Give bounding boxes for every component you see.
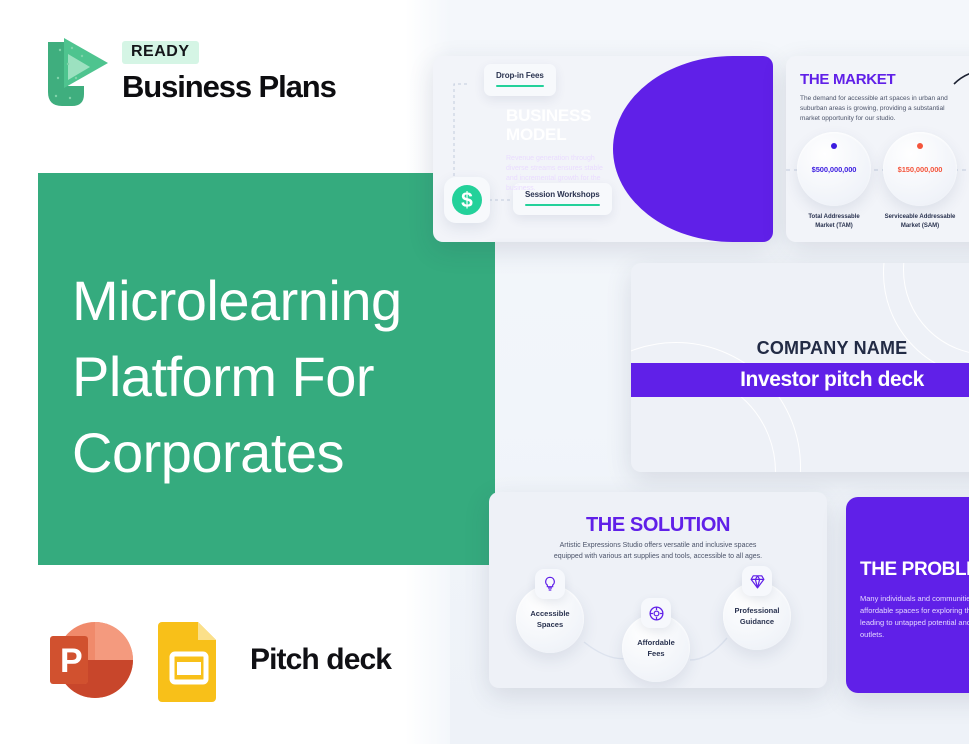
problem-body: Many individuals and communities lack ac…: [860, 593, 969, 641]
market-dial-caption: Serviceable Addressable Market (SAM): [883, 213, 957, 230]
dollar-sign-icon: $: [452, 185, 482, 215]
powerpoint-icon[interactable]: P: [38, 612, 136, 708]
market-dial[interactable]: $150,000,000 Serviceable Addressable Mar…: [883, 132, 957, 230]
slide-the-solution[interactable]: THE SOLUTION Artistic Expressions Studio…: [489, 492, 827, 688]
diamond-icon: [742, 566, 772, 596]
business-model-item[interactable]: Drop-in Fees: [484, 64, 556, 96]
business-model-title: BUSINESS MODEL: [506, 106, 616, 144]
market-dial-gauge: $150,000,000: [883, 132, 957, 206]
business-model-body: Revenue generation through diverse strea…: [506, 154, 615, 194]
business-model-icon-plate: $: [444, 177, 490, 223]
solution-node-label: Professional Guidance: [734, 605, 779, 627]
brand-logo[interactable]: READY Business Plans: [38, 34, 336, 112]
ready-badge: READY: [122, 41, 199, 64]
solution-node-label: Affordable Fees: [637, 637, 675, 659]
market-dial[interactable]: $500,000,000 Total Addressable Market (T…: [797, 132, 871, 230]
lightbulb-icon: [535, 569, 565, 599]
solution-node[interactable]: Professional Guidance: [723, 582, 791, 650]
play-arrow-logo-icon: [38, 34, 110, 112]
investor-pitch-label: Investor pitch deck: [740, 368, 924, 392]
accent-bar: [525, 204, 600, 206]
market-title: THE MARKET: [800, 71, 895, 88]
target-icon: [641, 598, 671, 628]
slide-the-market[interactable]: THE MARKET The demand for accessible art…: [786, 56, 969, 242]
poster-canvas: READY Business Plans Microlearning Platf…: [0, 0, 969, 744]
solution-node[interactable]: Affordable Fees: [622, 614, 690, 682]
brand-wordmark: READY Business Plans: [122, 41, 336, 104]
accent-bar: [496, 85, 544, 87]
problem-title: THE PROBLEM: [860, 559, 969, 581]
market-dial-gauge: $500,000,000: [797, 132, 871, 206]
investor-pitch-band: Investor pitch deck: [631, 363, 969, 397]
hero-panel: Microlearning Platform For Corporates: [38, 173, 495, 565]
market-dial-value: $500,000,000: [812, 165, 857, 174]
market-dial-value: $150,000,000: [898, 165, 943, 174]
curved-arrow-icon: [952, 66, 969, 116]
business-model-item-label: Drop-in Fees: [496, 71, 544, 80]
brand-name: Business Plans: [122, 70, 336, 104]
company-name: COMPANY NAME: [631, 338, 969, 359]
market-dial-caption: Total Addressable Market (TAM): [797, 213, 871, 230]
slide-the-problem[interactable]: THE PROBLEM Many individuals and communi…: [846, 497, 969, 693]
slide-business-model[interactable]: $ Drop-in Fees Session Workshops Commiss…: [433, 56, 773, 242]
solution-node-label: Accessible Spaces: [530, 608, 569, 630]
market-dial-dot: [831, 143, 837, 149]
format-row: P Pitch deck: [38, 612, 391, 708]
market-body: The demand for accessible art spaces in …: [800, 94, 952, 124]
svg-text:P: P: [60, 642, 83, 680]
format-label: Pitch deck: [250, 643, 391, 677]
google-slides-icon[interactable]: [156, 618, 222, 702]
market-dial-dot: [917, 143, 923, 149]
page-title: Microlearning Platform For Corporates: [72, 263, 492, 491]
slide-company-title[interactable]: COMPANY NAME Investor pitch deck: [631, 263, 969, 472]
solution-node[interactable]: Accessible Spaces: [516, 585, 584, 653]
